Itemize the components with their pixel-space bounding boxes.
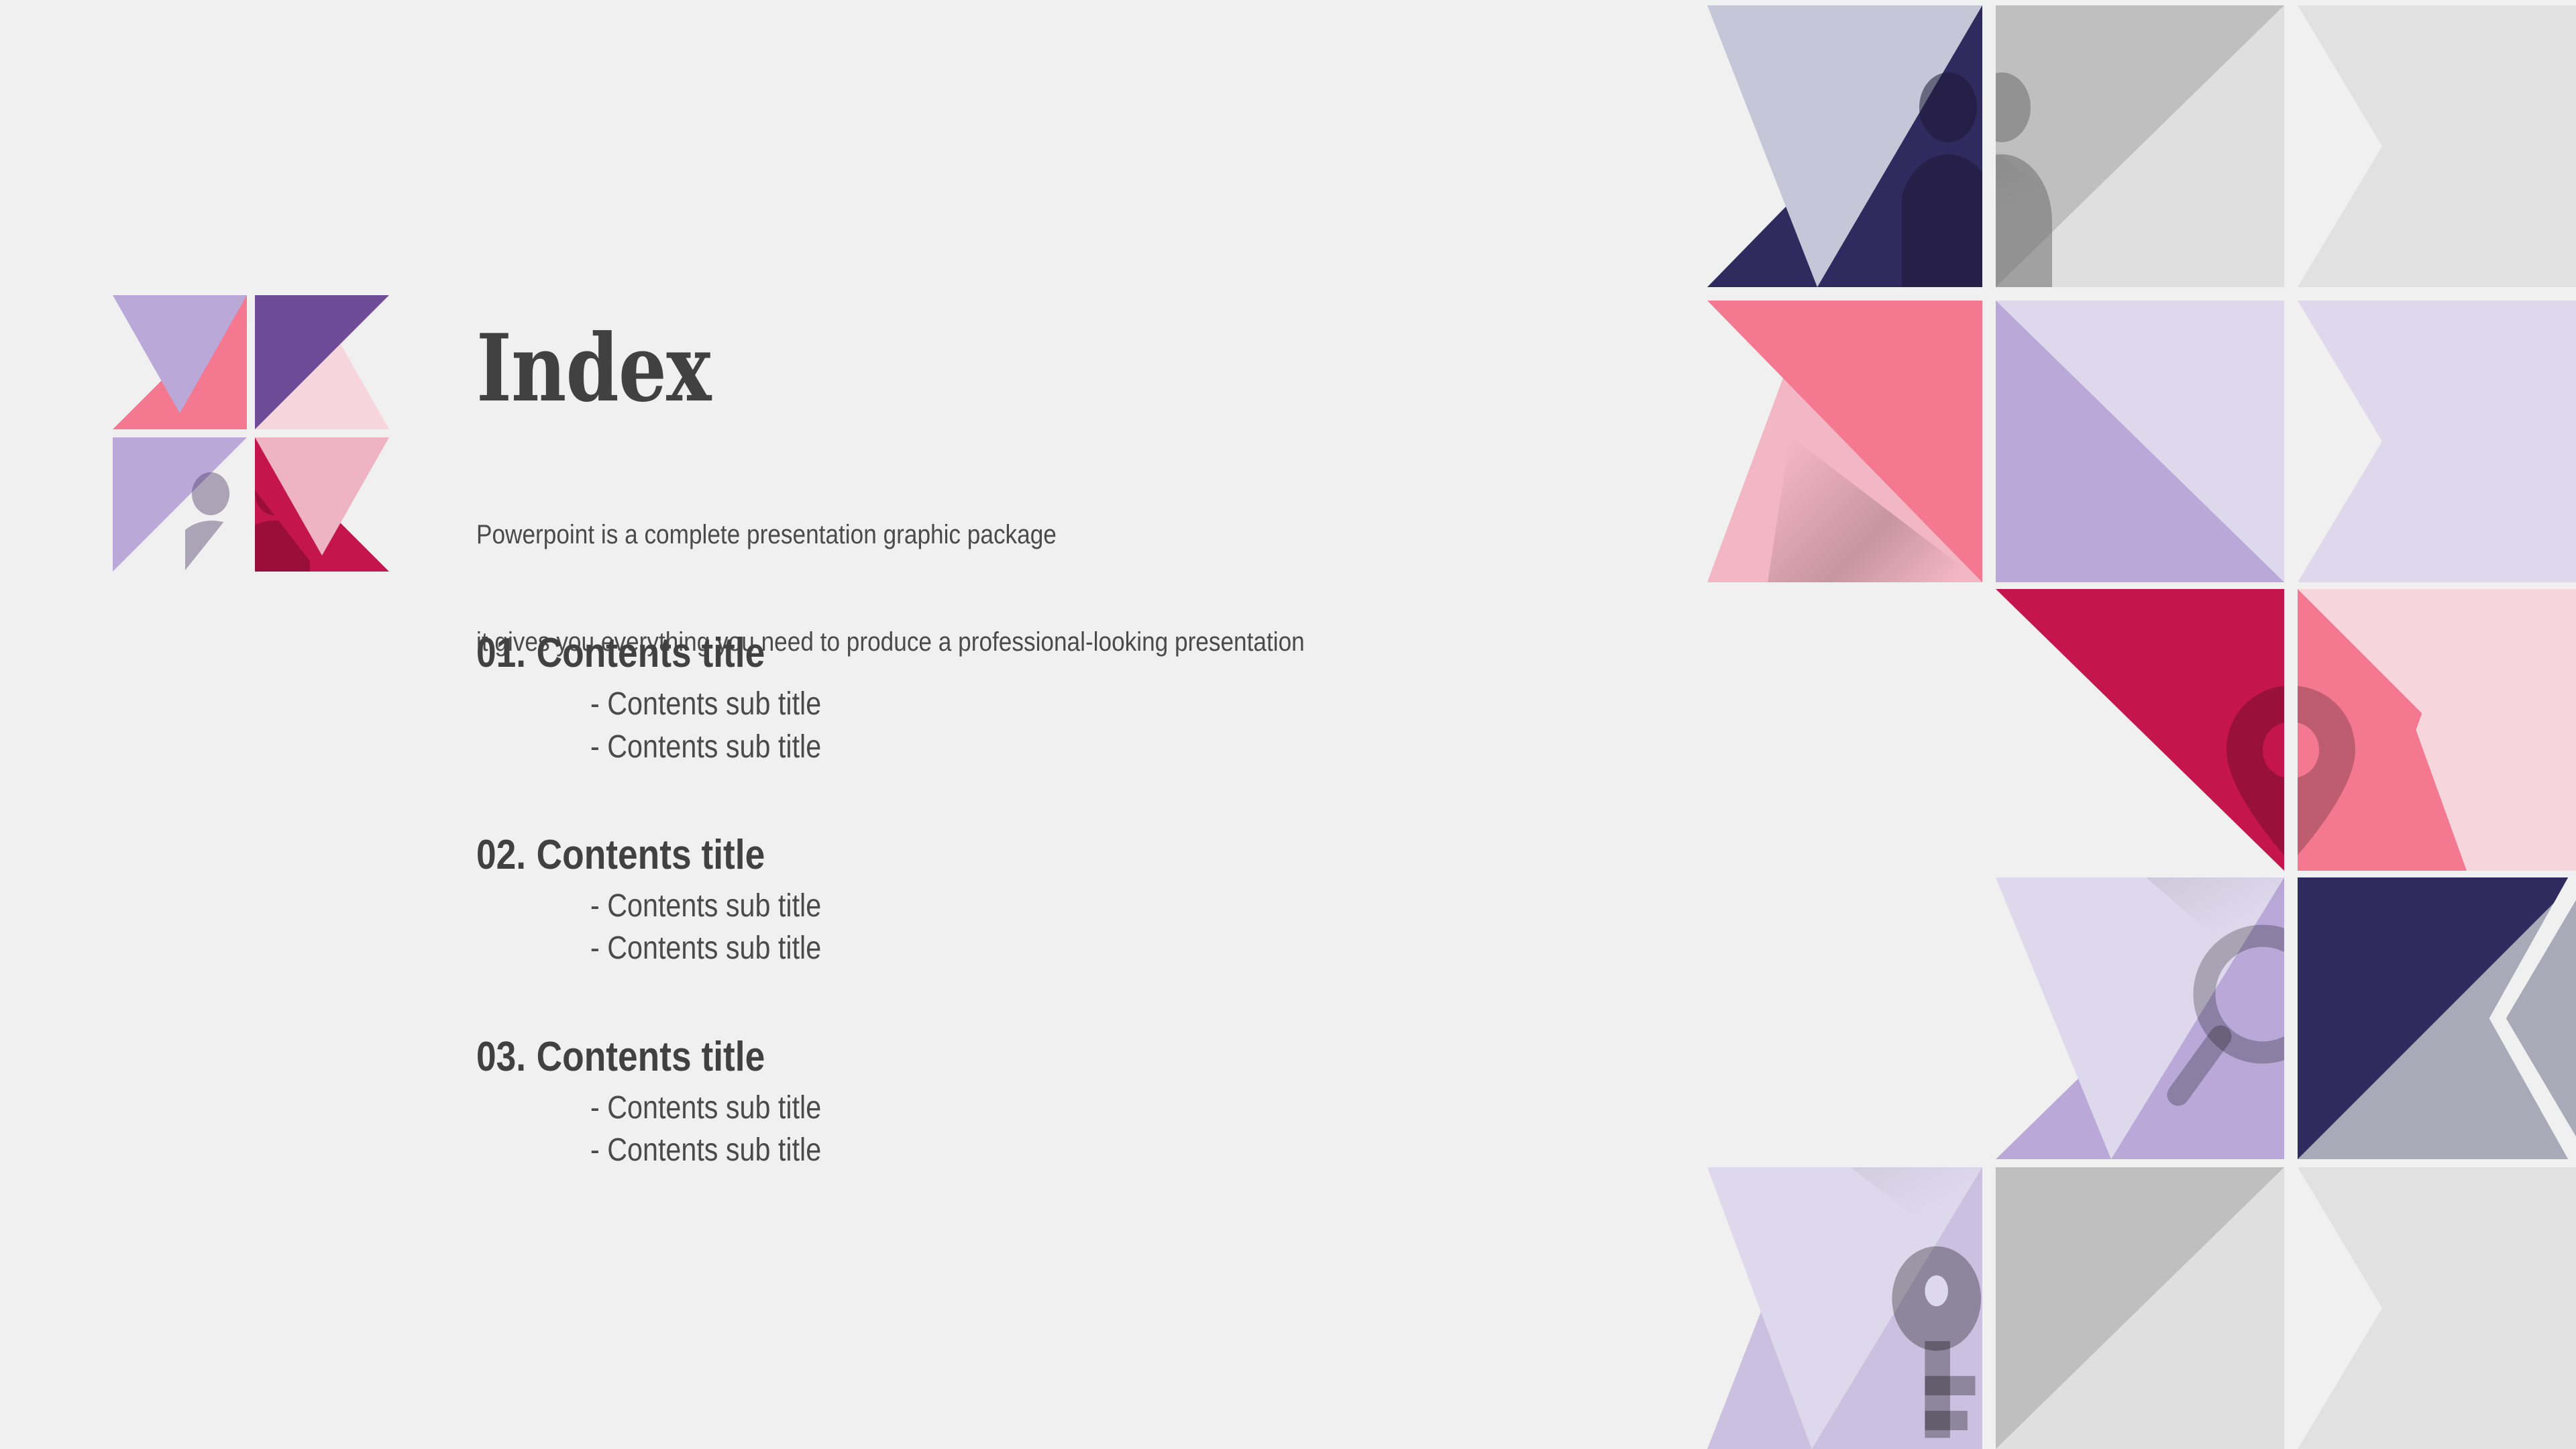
logo-cell-bottom-left bbox=[113, 437, 247, 572]
pattern-cell-r5c1 bbox=[1707, 1167, 1982, 1449]
key-icon bbox=[1996, 1244, 2053, 1446]
pattern-cell-r1c2 bbox=[1996, 5, 2284, 287]
pattern-cell-r5c3 bbox=[2298, 1167, 2576, 1449]
contents-item-03[interactable]: 03.Contents title - Contents sub title -… bbox=[476, 1034, 1415, 1172]
magnifier-icon bbox=[2150, 910, 2284, 1131]
contents-item-number: 01. bbox=[476, 630, 526, 676]
location-pin-icon bbox=[2298, 669, 2392, 871]
pattern-cell-r4c3 bbox=[2298, 877, 2576, 1159]
contents-list: 01.Contents title - Contents sub title -… bbox=[476, 631, 1415, 1236]
person-icon bbox=[185, 470, 247, 570]
contents-sub-item[interactable]: - Contents sub title bbox=[590, 683, 1300, 725]
contents-sub-item[interactable]: - Contents sub title bbox=[590, 726, 1300, 768]
decorative-triangle-pattern bbox=[1707, 0, 2576, 1449]
contents-sub-list: - Contents sub title - Contents sub titl… bbox=[476, 1087, 1415, 1172]
pattern-cell-r3c3 bbox=[2298, 589, 2576, 871]
location-pin-icon bbox=[2190, 669, 2284, 871]
contents-item-heading: 01.Contents title bbox=[476, 631, 1284, 676]
contents-sub-item[interactable]: - Contents sub title bbox=[590, 885, 1300, 927]
contents-sub-item[interactable]: - Contents sub title bbox=[590, 1087, 1300, 1129]
contents-item-01[interactable]: 01.Contents title - Contents sub title -… bbox=[476, 631, 1415, 768]
contents-item-heading: 03.Contents title bbox=[476, 1034, 1284, 1080]
contents-item-heading: 02.Contents title bbox=[476, 833, 1284, 878]
logo-cell-top-left bbox=[113, 295, 247, 429]
contents-item-number: 03. bbox=[476, 1034, 526, 1080]
person-icon bbox=[1902, 72, 1982, 287]
pattern-cell-r2c2 bbox=[1996, 301, 2284, 582]
pattern-cell-r1c1 bbox=[1707, 5, 1982, 287]
pattern-cell-r2c1 bbox=[1707, 301, 1982, 582]
logo-cell-top-right bbox=[255, 295, 389, 429]
contents-sub-list: - Contents sub title - Contents sub titl… bbox=[476, 683, 1415, 768]
contents-sub-item[interactable]: - Contents sub title bbox=[590, 1129, 1300, 1171]
pattern-cell-r1c3 bbox=[2298, 5, 2576, 287]
logo-cell-bottom-right bbox=[255, 437, 389, 572]
contents-sub-list: - Contents sub title - Contents sub titl… bbox=[476, 885, 1415, 970]
pattern-cell-r3c2 bbox=[1996, 589, 2284, 871]
contents-item-number: 02. bbox=[476, 832, 526, 878]
pattern-cell-r2c3 bbox=[2298, 301, 2576, 582]
contents-item-title: Contents title bbox=[537, 630, 765, 676]
contents-item-02[interactable]: 02.Contents title - Contents sub title -… bbox=[476, 833, 1415, 970]
contents-item-title: Contents title bbox=[537, 832, 765, 878]
brand-triangle-logo bbox=[113, 295, 394, 584]
subtitle-line-1: Powerpoint is a complete presentation gr… bbox=[476, 517, 1305, 553]
contents-item-title: Contents title bbox=[537, 1034, 765, 1080]
pattern-cell-r4c2 bbox=[1996, 877, 2284, 1159]
slide-canvas: Index Powerpoint is a complete presentat… bbox=[0, 0, 2576, 1449]
key-icon bbox=[1878, 1244, 1982, 1446]
page-title: Index bbox=[476, 322, 711, 415]
pattern-cell-r5c2 bbox=[1996, 1167, 2284, 1449]
contents-sub-item[interactable]: - Contents sub title bbox=[590, 927, 1300, 969]
